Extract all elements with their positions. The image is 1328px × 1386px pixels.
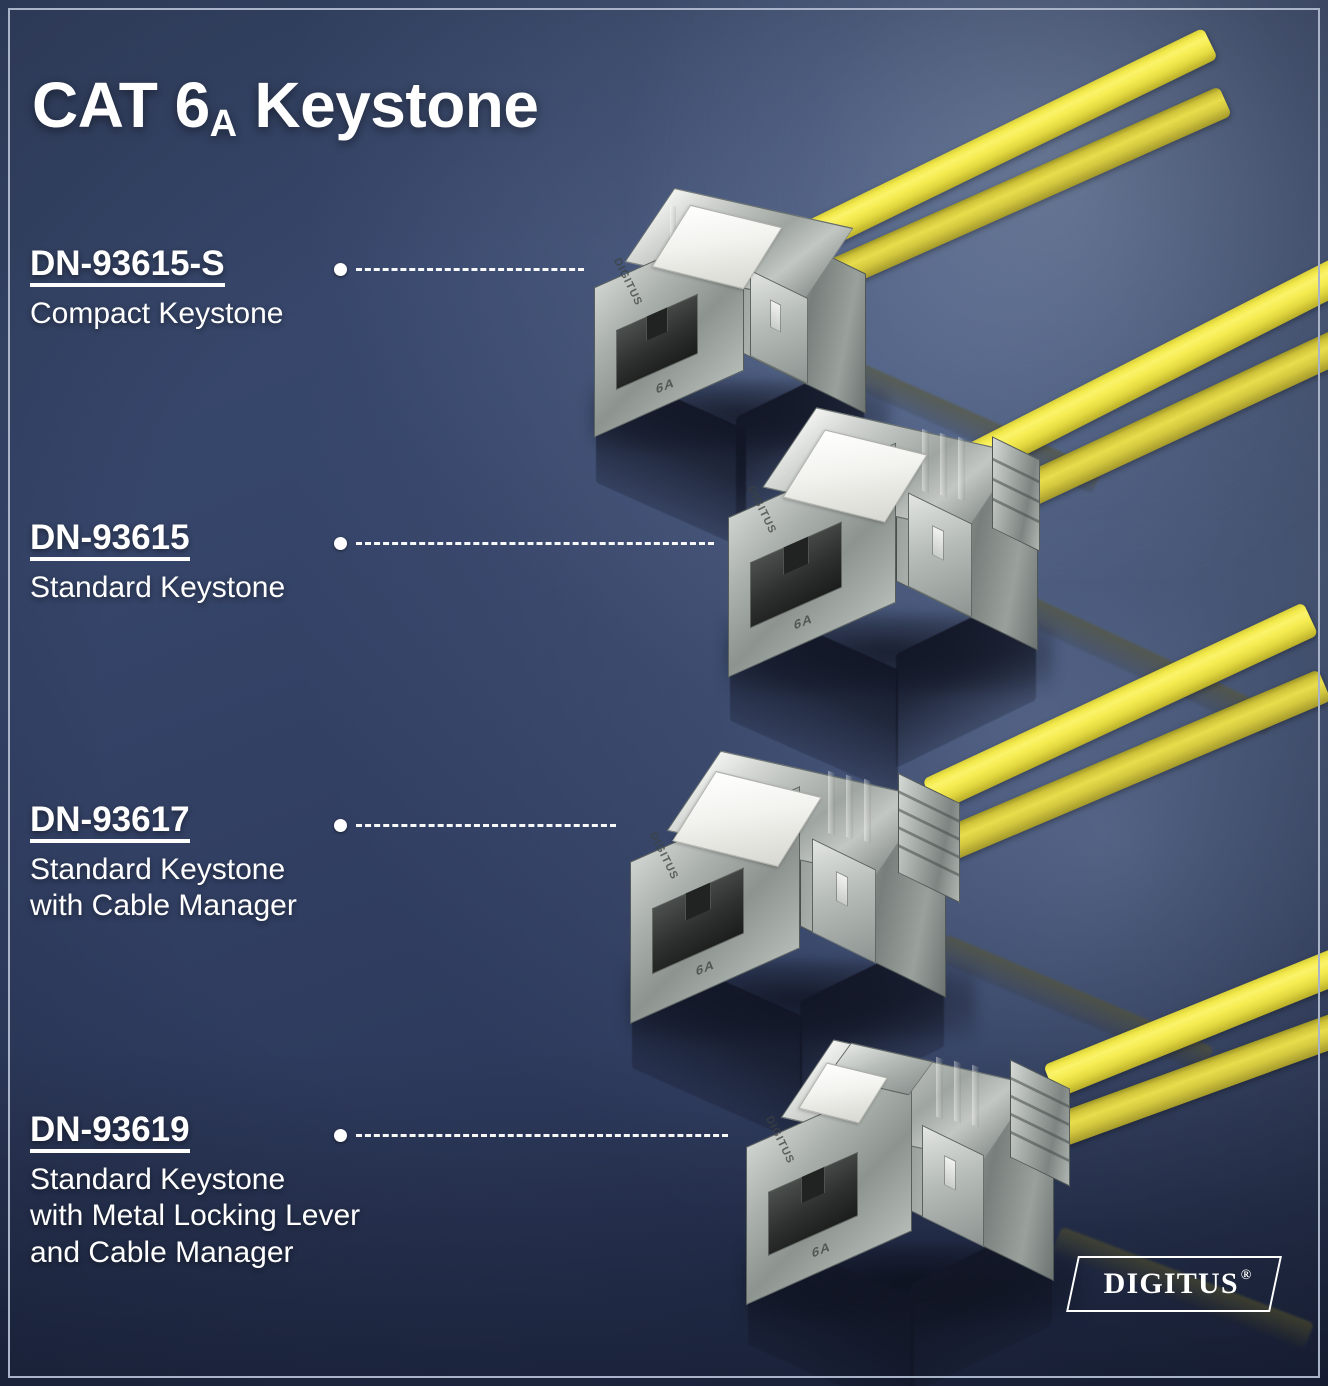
product-label-dn-93617: DN-93617 Standard Keystone with Cable Ma…: [30, 802, 297, 925]
cable-manager-ring-4: [1011, 1131, 1069, 1162]
module-rib-3: [958, 437, 965, 502]
logo-wordmark: DIGITUS®: [1072, 1256, 1276, 1312]
leader-dot: [334, 263, 347, 276]
leader-dash: [356, 542, 714, 545]
cable-manager-ring-2: [899, 808, 959, 840]
module-rib-2: [954, 1061, 961, 1124]
leader-line-dn-93615-s: [334, 262, 584, 276]
cable-manager-ring-4: [899, 844, 959, 876]
latch-slot: [836, 871, 848, 907]
product-description: Standard Keystone: [30, 570, 285, 607]
leader-line-dn-93615: [334, 536, 714, 550]
collar-ring-2: [993, 478, 1039, 503]
module-rib-1: [828, 771, 835, 836]
module-rib-3: [972, 1065, 979, 1128]
cable-manager-ring-2: [1011, 1095, 1069, 1126]
title-subscript: A: [210, 103, 237, 145]
product-code: DN-93617: [30, 802, 190, 843]
keystone-module-dn-93615: DIGITUS 6A: [700, 400, 1320, 730]
product-description: Compact Keystone: [30, 296, 283, 333]
leader-dot: [334, 537, 347, 550]
product-poster: DIGITUS 6A DIGITUS 6A: [0, 0, 1328, 1386]
logo-text: DIGITUS: [1104, 1267, 1239, 1301]
product-label-dn-93615-s: DN-93615-S Compact Keystone: [30, 246, 283, 332]
latch-slot: [770, 299, 781, 332]
leader-dash: [356, 268, 584, 271]
collar-ring-1: [993, 458, 1039, 483]
digitus-logo: DIGITUS®: [1072, 1256, 1276, 1312]
module-rib-2: [940, 433, 947, 498]
leader-dash: [356, 1134, 728, 1137]
product-label-dn-93619: DN-93619 Standard Keystone with Metal Lo…: [30, 1112, 360, 1271]
cable-manager-ring-3: [1011, 1113, 1069, 1144]
keystone-module-dn-93619: DIGITUS 6A: [730, 1030, 1328, 1370]
leader-dash: [356, 824, 616, 827]
registered-mark-icon: ®: [1241, 1268, 1253, 1284]
product-description: Standard Keystone with Cable Manager: [30, 852, 297, 925]
module-rib-3: [864, 779, 871, 844]
product-label-dn-93615: DN-93615 Standard Keystone: [30, 520, 285, 606]
leader-dot: [334, 819, 347, 832]
leader-dot: [334, 1129, 347, 1142]
latch-slot: [932, 525, 944, 561]
page-title: CAT 6A Keystone: [32, 68, 538, 142]
product-description: Standard Keystone with Metal Locking Lev…: [30, 1162, 360, 1272]
module-rib-1: [936, 1057, 943, 1120]
product-code: DN-93615: [30, 520, 190, 561]
leader-line-dn-93617: [334, 818, 616, 832]
module-rib-2: [846, 775, 853, 840]
product-code: DN-93615-S: [30, 246, 225, 287]
collar-ring-3: [993, 498, 1039, 523]
product-code: DN-93619: [30, 1112, 190, 1153]
title-rest: Keystone: [237, 69, 538, 141]
leader-line-dn-93619: [334, 1128, 728, 1142]
latch-slot: [944, 1155, 956, 1191]
cable-manager-ring-3: [899, 826, 959, 858]
title-main: CAT 6: [32, 69, 210, 141]
